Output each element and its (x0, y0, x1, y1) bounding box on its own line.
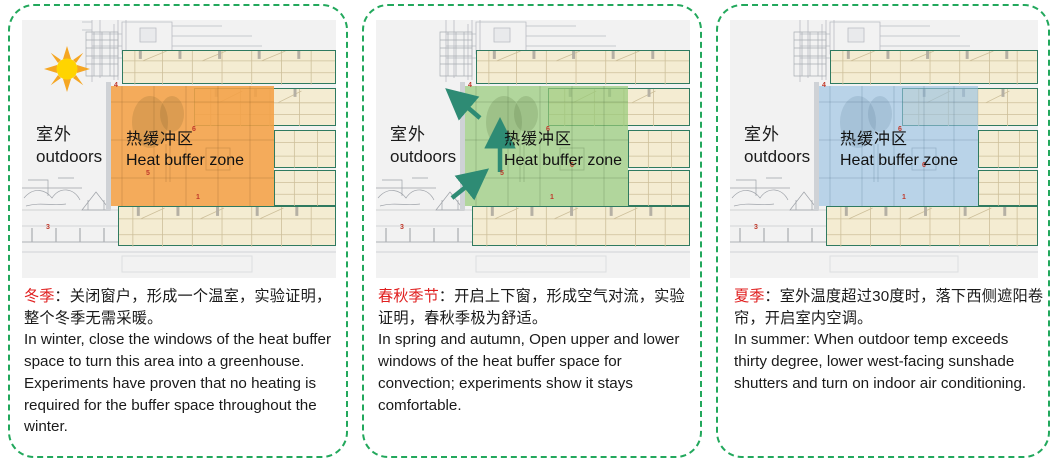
caption-cn-winter: ：关闭窗户，形成一个温室，实验证明，整个冬季无需采暖。 (24, 288, 331, 327)
marker-6: 6 (192, 126, 196, 133)
heat-buffer-zone-summer (818, 86, 978, 206)
room-beams (123, 51, 335, 85)
interior-room-right-lower (274, 170, 336, 206)
room-beams (119, 207, 335, 247)
outdoors-label-cn: 室外 (744, 125, 780, 144)
room-beams (275, 131, 335, 168)
marker-6: 6 (898, 126, 902, 133)
section-drawing-spring-autumn: 4 6 6 5 1 3 室外 outdoors 热缓冲区 Heat buffer… (376, 20, 690, 278)
caption-season-summer: 夏季 (734, 288, 764, 305)
caption-season-spring-autumn: 春秋季节 (378, 288, 439, 305)
marker-5: 5 (146, 170, 150, 177)
marker-6b: 6 (570, 162, 574, 169)
panel-spring-autumn: 4 6 6 5 1 3 室外 outdoors 热缓冲区 Heat buffer… (362, 4, 702, 458)
outdoors-label-winter: 室外 outdoors (36, 124, 102, 168)
zone-interior-linework (110, 86, 274, 206)
caption-winter: 冬季：关闭窗户，形成一个温室，实验证明，整个冬季无需采暖。 In winter,… (24, 286, 342, 438)
marker-5: 5 (500, 170, 504, 177)
heat-buffer-zone-winter (110, 86, 274, 206)
outdoors-label-en: outdoors (36, 147, 102, 166)
sun-icon (44, 46, 90, 92)
section-drawing-summer: 4 6 6 1 3 室外 outdoors 热缓冲区 Heat buffer z… (730, 20, 1038, 278)
airflow-arrow-icon (452, 174, 482, 198)
glazed-facade-wall (814, 82, 819, 210)
interior-room-right-upper (978, 130, 1038, 168)
outdoors-label-spring-autumn: 室外 outdoors (390, 124, 456, 168)
caption-season-winter: 冬季 (24, 288, 54, 305)
zone-interior-linework (818, 86, 978, 206)
marker-4: 4 (468, 82, 472, 89)
interior-room-upper (830, 50, 1038, 84)
marker-3: 3 (400, 224, 404, 231)
outdoors-label-en: outdoors (390, 147, 456, 166)
marker-6b: 6 (922, 162, 926, 169)
room-beams (275, 171, 335, 206)
marker-4: 4 (114, 82, 118, 89)
room-beams (827, 207, 1037, 247)
caption-en-summer: In summer: When outdoor temp exceeds thi… (734, 329, 1044, 394)
panel-summer: 4 6 6 1 3 室外 outdoors 热缓冲区 Heat buffer z… (716, 4, 1050, 458)
interior-room-right-upper (274, 130, 336, 168)
room-beams (831, 51, 1037, 85)
marker-1: 1 (550, 194, 554, 201)
interior-room-lower (826, 206, 1038, 246)
outdoors-label-cn: 室外 (36, 125, 72, 144)
caption-summer: 夏季：室外温度超过30度时，落下西侧遮阳卷帘，开启室内空调。 In summer… (734, 286, 1044, 395)
caption-en-winter: In winter, close the windows of the heat… (24, 329, 342, 438)
section-drawing-winter: 4 6 5 1 3 室外 ou (22, 20, 336, 278)
outdoors-label-cn: 室外 (390, 125, 426, 144)
outdoors-label-en: outdoors (744, 147, 810, 166)
caption-spring-autumn: 春秋季节：开启上下窗，形成空气对流，实验证明，春秋季极为舒适。 In sprin… (378, 286, 694, 416)
outdoors-label-summer: 室外 outdoors (744, 124, 810, 168)
interior-room-lower (118, 206, 336, 246)
airflow-arrow-icon (452, 94, 480, 118)
glazed-facade-wall (106, 82, 111, 210)
panel-winter: 4 6 5 1 3 室外 ou (8, 4, 348, 458)
interior-room-right-lower (978, 170, 1038, 206)
seasonal-strategy-figure: 4 6 5 1 3 室外 ou (0, 0, 1055, 462)
marker-3: 3 (754, 224, 758, 231)
marker-6: 6 (546, 126, 550, 133)
caption-en-spring-autumn: In spring and autumn, Open upper and low… (378, 329, 694, 416)
marker-1: 1 (902, 194, 906, 201)
caption-cn-summer: ：室外温度超过30度时，落下西侧遮阳卷帘，开启室内空调。 (734, 288, 1043, 327)
room-beams (979, 171, 1037, 206)
marker-1: 1 (196, 194, 200, 201)
interior-room-upper (122, 50, 336, 84)
marker-4: 4 (822, 82, 826, 89)
marker-3: 3 (46, 224, 50, 231)
room-beams (979, 131, 1037, 168)
